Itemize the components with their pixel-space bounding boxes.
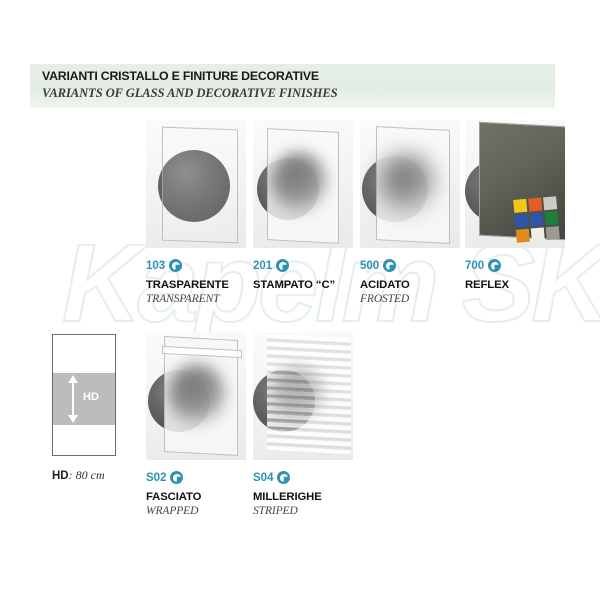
sample-code-row: 500 [360, 258, 460, 273]
sample-name-it: REFLEX [465, 279, 565, 291]
glass-finish-icon [170, 471, 183, 484]
sample-code-row: 103 [146, 258, 246, 273]
swatch [515, 214, 529, 228]
blurred-sphere-through-glass [271, 152, 327, 212]
swatch [516, 229, 530, 243]
swatch [543, 196, 557, 210]
sample-code: S04 [253, 472, 273, 484]
sample-name-it: STAMPATO “C” [253, 279, 353, 291]
sample-name-en: FROSTED [360, 293, 460, 305]
page-subtitle: VARIANTS OF GLASS AND DECORATIVE FINISHE… [42, 86, 338, 101]
hd-band-label: HD [83, 391, 99, 403]
sample-image-reflex [465, 120, 565, 248]
sample-card-S02[interactable]: S02 FASCIATO WRAPPED [146, 332, 246, 517]
blurred-sphere-through-glass [271, 366, 325, 422]
sample-code: 700 [465, 260, 484, 272]
sample-name-it: TRASPARENTE [146, 279, 246, 291]
swatch [529, 212, 543, 226]
sample-name-it: MILLERIGHE [253, 491, 353, 503]
sample-code-row: S02 [146, 470, 246, 485]
sample-code: S02 [146, 472, 166, 484]
blurred-sphere-through-glass [168, 364, 226, 424]
glass-pane [162, 127, 238, 244]
hd-dimension-arrow [66, 375, 80, 423]
sample-image-fasciato [146, 332, 246, 460]
section-header-band: VARIANTI CRISTALLO E FINITURE DECORATIVE… [30, 64, 555, 108]
sample-name-en: TRANSPARENT [146, 293, 246, 305]
swatch [531, 227, 545, 241]
swatch [546, 226, 560, 240]
sample-name-it: FASCIATO [146, 491, 246, 503]
hd-caption: HD: 80 cm [52, 468, 105, 483]
color-swatch-grid [513, 196, 560, 243]
sample-name-en: STRIPED [253, 505, 353, 517]
sample-name-en: WRAPPED [146, 505, 246, 517]
blurred-sphere-through-glass [378, 154, 436, 212]
sample-code-row: 700 [465, 258, 565, 273]
sample-card-700[interactable]: 700 REFLEX [465, 120, 565, 293]
hd-caption-value: : 80 cm [69, 468, 105, 482]
sample-code: 201 [253, 260, 272, 272]
sample-image-millerighe [253, 332, 353, 460]
sample-code-row: 201 [253, 258, 353, 273]
sample-code: 500 [360, 260, 379, 272]
glass-finish-icon [276, 259, 289, 272]
swatch [513, 199, 527, 213]
sample-image-acidato [360, 120, 460, 248]
sample-card-201[interactable]: 201 STAMPATO “C” [253, 120, 353, 293]
sample-image-transparent [146, 120, 246, 248]
sample-card-103[interactable]: 103 TRASPARENTE TRANSPARENT [146, 120, 246, 305]
swatch [544, 211, 558, 225]
swatch [528, 198, 542, 212]
sample-card-500[interactable]: 500 ACIDATO FROSTED [360, 120, 460, 305]
hd-diagram: HD [52, 334, 116, 456]
hd-caption-label: HD [52, 470, 69, 482]
glass-finish-icon [277, 471, 290, 484]
glass-finish-icon [169, 259, 182, 272]
page-title: VARIANTI CRISTALLO E FINITURE DECORATIVE [42, 69, 319, 83]
sample-card-S04[interactable]: S04 MILLERIGHE STRIPED [253, 332, 353, 517]
glass-finish-icon [488, 259, 501, 272]
sample-code-row: S04 [253, 470, 353, 485]
glass-finish-icon [383, 259, 396, 272]
sample-name-it: ACIDATO [360, 279, 460, 291]
sample-image-stampato [253, 120, 353, 248]
sample-code: 103 [146, 260, 165, 272]
